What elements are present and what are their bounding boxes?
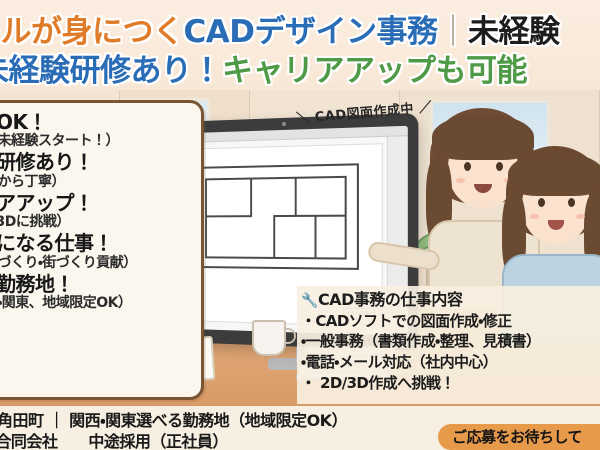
- floorplan-line: [295, 177, 296, 217]
- benefit-title: ャリアアップ！: [0, 192, 191, 214]
- floorplan-line: [205, 215, 252, 217]
- cheek-blush: [530, 214, 539, 219]
- headline-seg: キャリアアップも可能: [222, 53, 527, 89]
- eye: [538, 198, 545, 207]
- floorplan-line: [205, 256, 347, 259]
- benefit-item: 経験OK！ （全員未経験スタート！）: [0, 111, 191, 149]
- duty-item: ・CADソフトでの図面作成・修正: [301, 311, 600, 332]
- cheek-blush: [576, 214, 585, 219]
- wrench-icon: 🔧: [301, 293, 318, 309]
- benefit-subtitle: （モノづくり・街づくり貢献）: [0, 255, 191, 271]
- floorplan-line: [345, 176, 347, 258]
- duties-title: CAD事務の仕事内容: [318, 290, 462, 309]
- duty-item: ・一般事務（書類作成・整理、見積書）: [301, 331, 600, 352]
- floorplan-line: [357, 163, 359, 270]
- benefit-subtitle: （2D/3Dに挑戦）: [0, 214, 191, 230]
- floorplan-line: [314, 215, 315, 257]
- floorplan-line: [205, 176, 347, 180]
- benefit-title: べる勤務地！: [0, 273, 191, 295]
- floorplan-line: [205, 178, 206, 256]
- benefit-item: 経験研修あり！ （基礎から丁寧）: [0, 151, 191, 189]
- duties-title-row: 🔧CAD事務の仕事内容: [301, 290, 600, 311]
- headline-seg: 未経験研修あり！: [0, 53, 222, 89]
- benefit-title: 経験OK！: [0, 111, 191, 133]
- benefits-panel: 経験OK！ （全員未経験スタート！） 経験研修あり！ （基礎から丁寧） ャリアア…: [0, 100, 204, 400]
- cheek-blush: [456, 178, 465, 183]
- benefit-title: 経験研修あり！: [0, 151, 191, 173]
- floorplan-line: [196, 163, 359, 168]
- cta-badge[interactable]: ご応募をお待ちして: [438, 424, 600, 450]
- floorplan-line: [196, 266, 359, 269]
- benefit-subtitle: （基礎から丁寧）: [0, 174, 191, 190]
- floorplan-line: [250, 178, 251, 218]
- headline-line-2: 未経験研修あり！キャリアアップも可能: [0, 45, 527, 90]
- benefit-title: タチになる仕事！: [0, 232, 191, 254]
- headline-band: キルが身につくCADデザイン事務｜未経験 未経験研修あり！キャリアアップも可能: [0, 0, 600, 90]
- footer-company: eS合同会社 中途採用（正社員）: [0, 428, 228, 450]
- eye: [464, 162, 471, 171]
- benefit-subtitle: （関西・関東、地域限定OK）: [0, 295, 191, 311]
- floorplan-line: [273, 215, 346, 217]
- duty-item: ・ 2D/3D作成へ挑戦！: [301, 373, 600, 394]
- benefit-item: タチになる仕事！ （モノづくり・街づくり貢献）: [0, 232, 191, 270]
- job-duties-panel: 🔧CAD事務の仕事内容 ・CADソフトでの図面作成・修正 ・一般事務（書類作成・…: [297, 286, 600, 404]
- webcam-icon: [282, 122, 286, 126]
- duty-item: ・電話・メール対応（社内中心）: [301, 352, 600, 373]
- coffee-mug: [252, 320, 286, 356]
- floorplan-line: [273, 215, 274, 257]
- ad-banner: CAD図面: [0, 0, 600, 450]
- eye: [568, 198, 575, 207]
- benefit-item: ャリアアップ！ （2D/3Dに挑戦）: [0, 192, 191, 230]
- bangs: [508, 152, 600, 196]
- benefit-item: べる勤務地！ （関西・関東、地域限定OK）: [0, 273, 191, 311]
- benefit-subtitle: （全員未経験スタート！）: [0, 133, 191, 149]
